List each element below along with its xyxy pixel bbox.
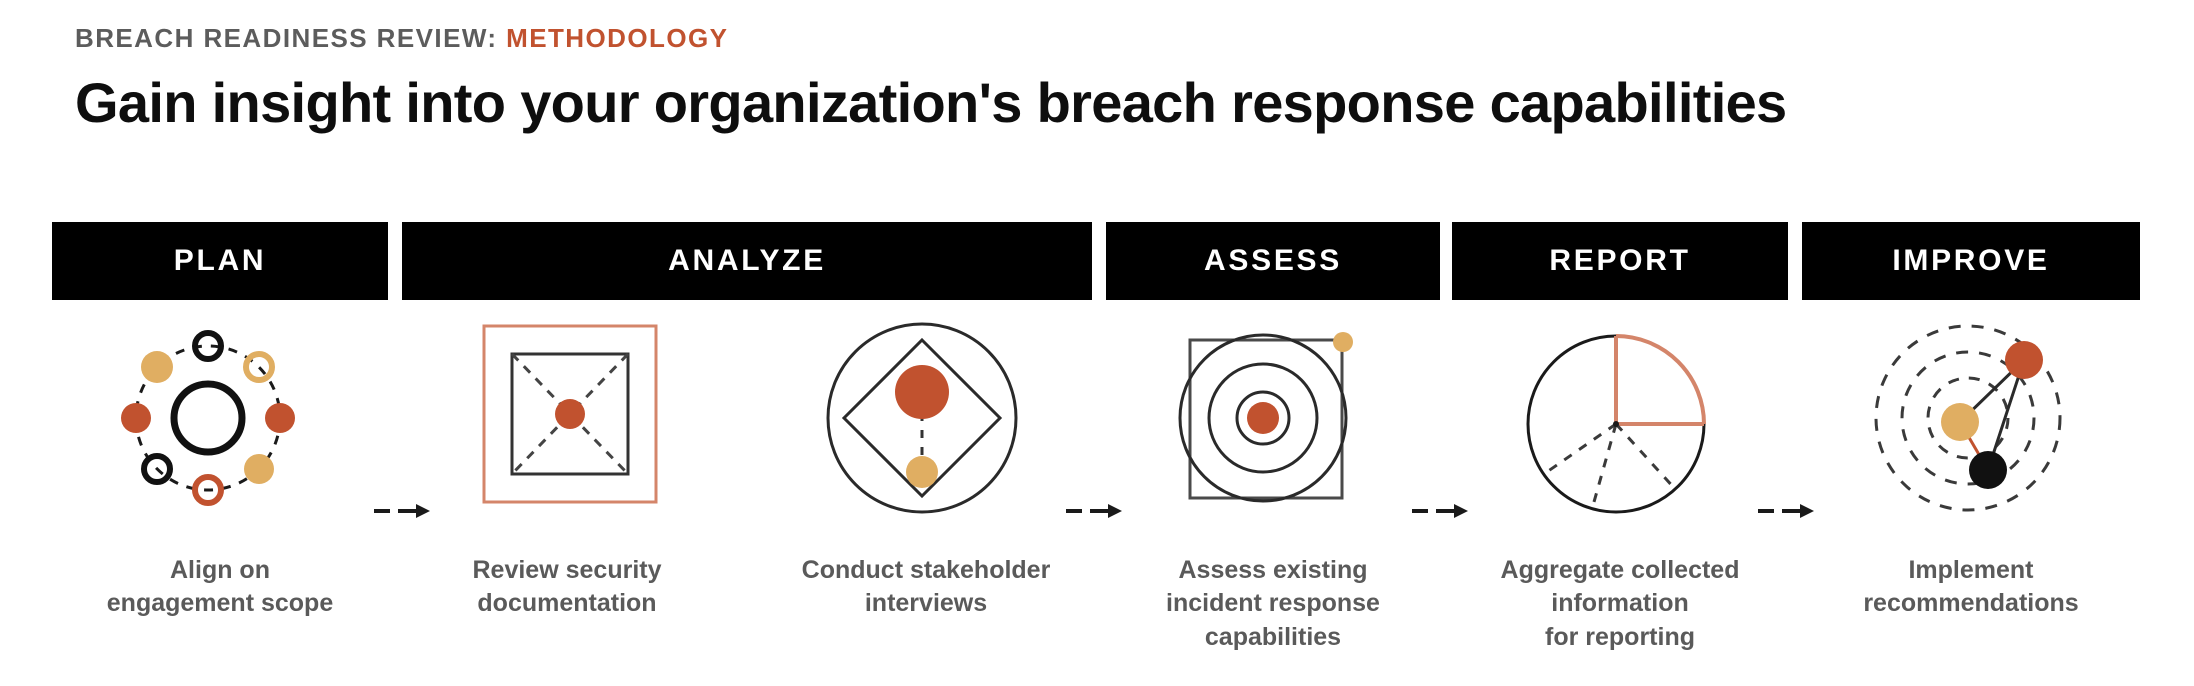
- flow-arrow-1: [372, 498, 432, 524]
- caption-line: interviews: [760, 587, 1092, 620]
- network-nodes-icon: [1872, 318, 2072, 518]
- caption-line: Review security: [402, 554, 732, 587]
- caption-line: Aggregate collected: [1452, 554, 1788, 587]
- page-title: Gain insight into your organization's br…: [75, 73, 2135, 133]
- stage-bar-improve[interactable]: IMPROVE: [1802, 222, 2140, 300]
- stage-bar-report[interactable]: REPORT: [1452, 222, 1788, 300]
- caption-line: for reporting: [1452, 621, 1788, 654]
- caption-line: engagement scope: [52, 587, 388, 620]
- caption-line: recommendations: [1802, 587, 2140, 620]
- caption-assess: Assess existing incident response capabi…: [1106, 554, 1440, 654]
- target-square-icon: [1168, 318, 1368, 518]
- caption-line: Align on: [52, 554, 388, 587]
- icon-row: [0, 318, 2194, 518]
- pie-chart-icon: [1520, 318, 1720, 518]
- square-crosshair-icon: [470, 318, 670, 518]
- caption-row: Align on engagement scope Review securit…: [0, 554, 2194, 684]
- caption-interviews: Conduct stakeholder interviews: [760, 554, 1092, 621]
- stage-bar-analyze[interactable]: ANALYZE: [402, 222, 1092, 300]
- eyebrow-accent: METHODOLOGY: [506, 23, 728, 53]
- caption-improve: Implement recommendations: [1802, 554, 2140, 621]
- caption-line: incident response: [1106, 587, 1440, 620]
- flow-arrow-3: [1410, 498, 1470, 524]
- stage-bar-assess[interactable]: ASSESS: [1106, 222, 1440, 300]
- stage-bar-plan[interactable]: PLAN: [52, 222, 388, 300]
- orbit-nodes-icon: [108, 318, 308, 518]
- flow-arrow-2: [1064, 498, 1124, 524]
- header-block: BREACH READINESS REVIEW: METHODOLOGY Gai…: [75, 24, 2135, 133]
- caption-line: Conduct stakeholder: [760, 554, 1092, 587]
- caption-report: Aggregate collected information for repo…: [1452, 554, 1788, 654]
- eyebrow-prefix: BREACH READINESS REVIEW:: [75, 23, 497, 53]
- caption-line: capabilities: [1106, 621, 1440, 654]
- circle-diamond-nodes-icon: [822, 318, 1022, 518]
- stage-bar-label: ANALYZE: [668, 246, 826, 276]
- caption-plan: Align on engagement scope: [52, 554, 388, 621]
- caption-line: Implement: [1802, 554, 2140, 587]
- stage-band: PLAN ANALYZE ASSESS REPORT IMPROVE: [0, 222, 2194, 302]
- flow-arrow-4: [1756, 498, 1816, 524]
- caption-line: documentation: [402, 587, 732, 620]
- stage-bar-label: ASSESS: [1204, 246, 1342, 276]
- stage-bar-label: IMPROVE: [1892, 246, 2049, 276]
- stage-bar-label: REPORT: [1549, 246, 1690, 276]
- caption-line: Assess existing: [1106, 554, 1440, 587]
- caption-line: information: [1452, 587, 1788, 620]
- caption-analyze: Review security documentation: [402, 554, 732, 621]
- eyebrow-label: BREACH READINESS REVIEW: METHODOLOGY: [75, 24, 2135, 53]
- stage-bar-label: PLAN: [174, 246, 266, 276]
